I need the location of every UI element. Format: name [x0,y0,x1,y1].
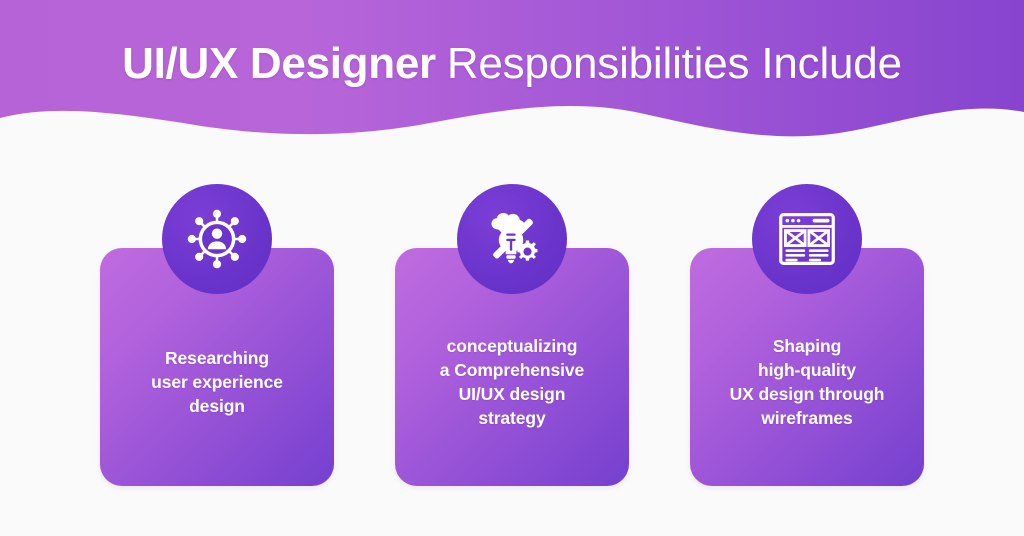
wireframe-browser-icon-glyph [777,209,837,269]
responsibility-card-research[interactable]: Researching user experience design [100,248,334,486]
card-text: conceptualizing a Comprehensive UI/UX de… [434,335,590,430]
page-title: UI/UX Designer Responsibilities Include [0,0,1024,128]
responsibility-card-strategy[interactable]: conceptualizing a Comprehensive UI/UX de… [395,248,629,486]
page-title-strong: UI/UX Designer [122,39,436,89]
lightbulb-brain-tools-icon-glyph [481,208,543,270]
card-text: Researching user experience design [145,347,289,418]
header-banner: UI/UX Designer Responsibilities Include [0,0,1024,160]
responsibility-card-wireframes[interactable]: Shaping high-quality UX design through w… [690,248,924,486]
card-text: Shaping high-quality UX design through w… [724,335,891,430]
responsibility-cards-row: Researching user experience design [0,248,1024,486]
user-research-network-icon [162,184,272,294]
user-research-network-icon-glyph [186,208,248,270]
wireframe-browser-icon [752,184,862,294]
lightbulb-brain-tools-icon [457,184,567,294]
page-title-light: Responsibilities Include [447,39,902,89]
